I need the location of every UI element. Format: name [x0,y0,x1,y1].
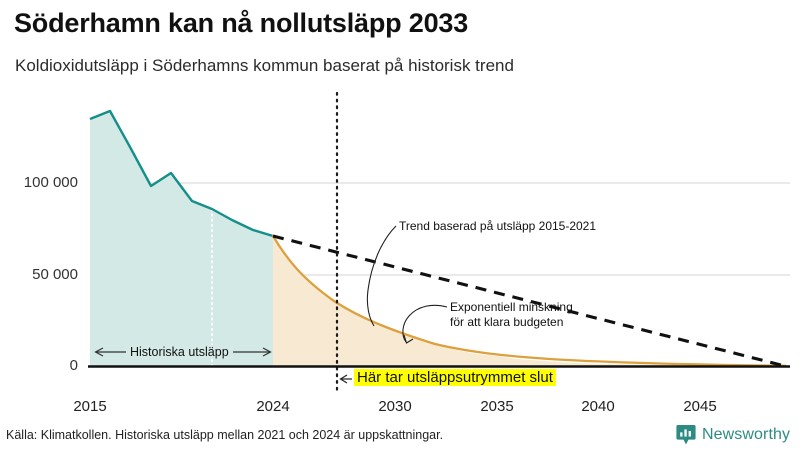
brand-logo[interactable]: Newsworthy [676,424,790,446]
x-tick-label-2045: 2045 [660,398,740,415]
annotation-budget-end: Här tar utsläppsutrymmet slut [354,369,556,386]
x-tick-label-2035: 2035 [457,398,537,415]
x-tick-label-2015: 2015 [50,398,130,415]
bar-chart-icon [676,424,696,446]
y-tick-label-50000: 50 000 [8,266,78,283]
annotation-historical-span: Historiska utsläpp [126,345,233,359]
y-tick-label-0: 0 [8,357,78,374]
budget-end-arrow [341,375,353,383]
historical-area-fill [90,111,273,366]
x-tick-label-2040: 2040 [558,398,638,415]
source-note: Källa: Klimatkollen. Historiska utsläpp … [6,428,443,442]
annotation-exponential-line2: för att klara budgeten [450,315,573,330]
y-tick-label-100000: 100 000 [8,174,78,191]
annotation-exponential: Exponentiell minskning för att klara bud… [450,300,573,330]
annotation-trend: Trend baserad på utsläpp 2015-2021 [399,219,596,234]
x-tick-label-2024: 2024 [233,398,313,415]
brand-name: Newsworthy [702,426,790,444]
chart-page: Söderhamn kan nå nollutsläpp 2033 Koldio… [0,0,800,450]
annotation-exponential-line1: Exponentiell minskning [450,300,573,315]
x-tick-label-2030: 2030 [355,398,435,415]
trend-annotation-leader [367,226,396,326]
